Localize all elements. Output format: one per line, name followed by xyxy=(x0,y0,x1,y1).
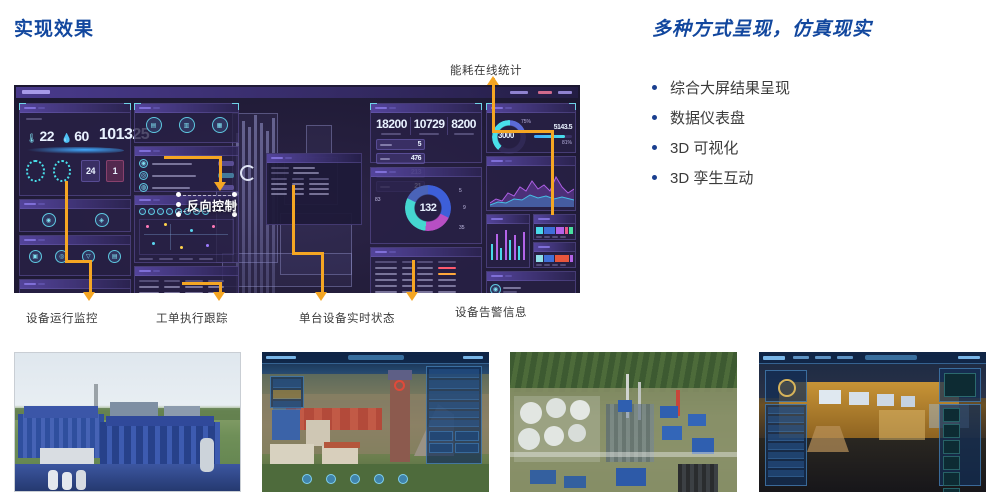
reverse-connector-arrow xyxy=(214,182,226,191)
anchor-dot xyxy=(176,192,181,197)
twin-title xyxy=(348,355,404,360)
panel-energy-overview[interactable]: 3000 75% 5143.5 81% xyxy=(486,103,576,153)
dashboard-screenshot[interactable]: 🌡 22 💧 60 101325 24 1 xyxy=(14,85,580,293)
panel-energy-bar[interactable] xyxy=(486,214,530,268)
hotspot-marker[interactable] xyxy=(394,380,405,391)
summary-item: 8200 xyxy=(451,117,476,135)
titlebar-status xyxy=(538,91,552,94)
scada-left-list[interactable] xyxy=(765,404,807,486)
table-row[interactable] xyxy=(375,285,477,287)
panel-device-group-1[interactable]: ◉ ◈ xyxy=(19,199,131,232)
callout-label-2: 工单执行跟踪 xyxy=(156,310,228,326)
table-row[interactable] xyxy=(375,279,477,281)
panel-alarm-table[interactable] xyxy=(370,247,482,293)
titlebar-meta xyxy=(510,91,528,94)
anchor-dot xyxy=(176,202,181,207)
callout-arrow-3 xyxy=(315,292,327,301)
list-item-label: 3D 可视化 xyxy=(670,137,738,158)
panel-workorder-donut[interactable]: 132 83 5 9 35 xyxy=(370,167,482,244)
reverse-connector-v xyxy=(219,156,222,184)
workorder-icon[interactable]: ▤ xyxy=(146,117,162,133)
gauge-humidity xyxy=(26,160,45,182)
env-count-b: 1 xyxy=(106,160,124,182)
energy-connector-v2 xyxy=(551,130,554,215)
callout-label-energy: 能耗在线统计 xyxy=(450,62,522,78)
workorder-icon[interactable]: ▦ xyxy=(212,117,228,133)
stacked-blocks xyxy=(534,224,575,234)
row-icon: ◎ xyxy=(139,171,148,180)
camera-tile[interactable] xyxy=(943,488,960,492)
summary-item: 10729 xyxy=(414,117,445,135)
env-humidity-value: 60 xyxy=(74,128,89,144)
anchor-dot xyxy=(176,212,181,217)
page-title-left: 实现效果 xyxy=(14,14,94,41)
panel-device-table[interactable] xyxy=(134,266,239,293)
node-icon xyxy=(139,208,146,215)
callout-line-3-c xyxy=(321,252,324,293)
topology-diagram[interactable] xyxy=(139,219,234,255)
donut-label-2: 5 xyxy=(459,188,462,194)
callout-label-4: 设备告警信息 xyxy=(455,304,527,320)
callout-label-3: 单台设备实时状态 xyxy=(299,310,395,326)
scada-title xyxy=(865,355,917,360)
panel-energy-share-2[interactable] xyxy=(533,242,576,268)
table-row[interactable] xyxy=(375,291,477,293)
node-icon xyxy=(166,208,173,215)
callout-arrow-4 xyxy=(406,292,418,301)
list-item: 综合大屏结果呈现 xyxy=(652,72,982,102)
callout-arrow-energy xyxy=(487,76,499,85)
panel-workorder-status[interactable]: ▤ ▥ ▦ xyxy=(134,103,239,143)
energy-connector-v xyxy=(492,85,495,133)
list-item-label: 数据仪表盘 xyxy=(670,107,745,128)
callout-line-1-c xyxy=(89,260,92,293)
panel-energy-trend[interactable] xyxy=(486,156,576,211)
scada-gauge-panel[interactable] xyxy=(765,370,807,402)
reverse-connector-h xyxy=(164,156,222,159)
panel-energy-share-1[interactable] xyxy=(533,214,576,240)
kpi-runtime: 5 xyxy=(376,139,425,150)
bullet-icon xyxy=(652,85,657,90)
scada-camera-grid[interactable] xyxy=(939,404,981,486)
summary-item: 18200 xyxy=(376,117,407,135)
twin-left-menu[interactable] xyxy=(270,376,304,408)
gallery-image-4[interactable] xyxy=(759,352,986,492)
gallery-image-2[interactable] xyxy=(262,352,489,492)
list-item: 数据仪表盘 xyxy=(652,102,982,132)
panel-production-summary[interactable]: 18200 10729 8200 5 xyxy=(370,103,482,163)
energy-gauge-pct: 75% xyxy=(521,119,531,125)
scada-camera-preview[interactable] xyxy=(939,368,981,402)
energy-gauge: 3000 75% xyxy=(490,116,530,150)
workorder-icon[interactable]: ▥ xyxy=(179,117,195,133)
stacked-blocks xyxy=(534,252,575,262)
donut-label-4: 35 xyxy=(459,225,465,231)
humidity-icon: 💧 xyxy=(61,133,72,144)
scada-topbar[interactable] xyxy=(759,352,986,364)
gauge-temperature xyxy=(53,160,72,182)
camera-tile[interactable] xyxy=(943,456,960,470)
energy-meter-bar xyxy=(534,135,565,138)
callout-line-4-a xyxy=(412,260,415,293)
panel-energy-detail-list[interactable]: ◉ ◈ ◍ xyxy=(486,271,576,293)
thermometer-icon: 🌡 xyxy=(26,133,37,144)
bullet-icon xyxy=(652,175,657,180)
pressure-glow xyxy=(26,147,124,154)
node-icon xyxy=(148,208,155,215)
table-row[interactable] xyxy=(375,267,477,269)
toolbar-icon[interactable] xyxy=(398,474,408,484)
reverse-control-guideline xyxy=(178,195,236,196)
donut-label-3: 9 xyxy=(463,205,466,211)
energy-connector-h xyxy=(492,130,554,133)
camera-tile[interactable] xyxy=(943,408,960,422)
device-detail-popup[interactable] xyxy=(266,153,362,225)
callout-label-1: 设备运行监控 xyxy=(26,310,98,326)
bullet-icon xyxy=(652,115,657,120)
reverse-control-label: 反向控制 xyxy=(187,197,237,214)
callout-line-3-a xyxy=(292,185,295,255)
toolbar-icon[interactable] xyxy=(350,474,360,484)
twin-bottom-toolbar[interactable] xyxy=(302,474,408,484)
env-temperature-value: 22 xyxy=(39,128,54,144)
env-count-a: 24 xyxy=(81,160,99,182)
row-icon: ◉ xyxy=(139,159,148,168)
meter-icon: ◉ xyxy=(490,284,501,293)
list-item-label: 综合大屏结果呈现 xyxy=(670,77,790,98)
list-item: 3D 可视化 xyxy=(652,132,982,162)
camera-tile[interactable] xyxy=(943,424,960,438)
donut-label-1: 83 xyxy=(375,197,381,203)
callout-line-1-a xyxy=(65,181,68,263)
device-icon[interactable]: ▣ xyxy=(29,250,42,263)
twin-right-panel[interactable] xyxy=(426,366,482,464)
bullet-icon xyxy=(652,145,657,150)
area-chart xyxy=(487,166,575,210)
panel-device-group-3[interactable]: ◉ ◍ ◐ ◒ ◔ xyxy=(19,279,131,293)
callout-line-3-b xyxy=(292,252,324,255)
toolbar-icon[interactable] xyxy=(374,474,384,484)
gallery-image-1[interactable] xyxy=(14,352,241,492)
dashboard-title-text xyxy=(22,90,50,94)
camera-tile[interactable] xyxy=(943,440,960,454)
page-title-right: 多种方式呈现，仿真现实 xyxy=(652,14,872,41)
table-row[interactable] xyxy=(271,188,357,190)
table-row[interactable] xyxy=(271,183,357,185)
table-row[interactable] xyxy=(271,193,357,195)
gallery-image-3[interactable] xyxy=(510,352,737,492)
panel-env-monitor[interactable]: 🌡 22 💧 60 101325 24 1 xyxy=(19,103,131,196)
device-icon[interactable]: ▤ xyxy=(108,250,121,263)
toolbar-icon[interactable] xyxy=(326,474,336,484)
reverse-control-icon[interactable] xyxy=(240,165,256,181)
device-icon[interactable]: ◉ xyxy=(42,213,56,227)
callout-arrow-1 xyxy=(83,292,95,301)
donut-center-value: 132 xyxy=(420,202,437,214)
dashboard-canvas: 🌡 22 💧 60 101325 24 1 xyxy=(14,85,580,293)
device-icon[interactable]: ◈ xyxy=(95,213,109,227)
callout-line-2-a xyxy=(182,282,222,285)
list-item: 3D 孪生互动 xyxy=(652,162,982,192)
kpi-output: 476 xyxy=(376,153,425,164)
node-icon xyxy=(157,208,164,215)
list-item-label: 3D 孪生互动 xyxy=(670,167,753,188)
panel-device-group-2[interactable]: ▣ ◎ ▽ ▤ xyxy=(19,235,131,276)
table-row[interactable] xyxy=(375,273,477,275)
list-item[interactable]: ◉ xyxy=(490,284,530,293)
callout-line-1-b xyxy=(65,260,92,263)
toolbar-icon[interactable] xyxy=(302,474,312,484)
twin-topbar[interactable] xyxy=(262,352,489,364)
row-icon: ◍ xyxy=(139,183,148,192)
bar-chart xyxy=(487,224,529,262)
feature-list: 综合大屏结果呈现 数据仪表盘 3D 可视化 3D 孪生互动 xyxy=(652,72,982,192)
titlebar-clock xyxy=(558,91,572,94)
callout-arrow-2 xyxy=(213,292,225,301)
camera-tile[interactable] xyxy=(943,472,960,486)
